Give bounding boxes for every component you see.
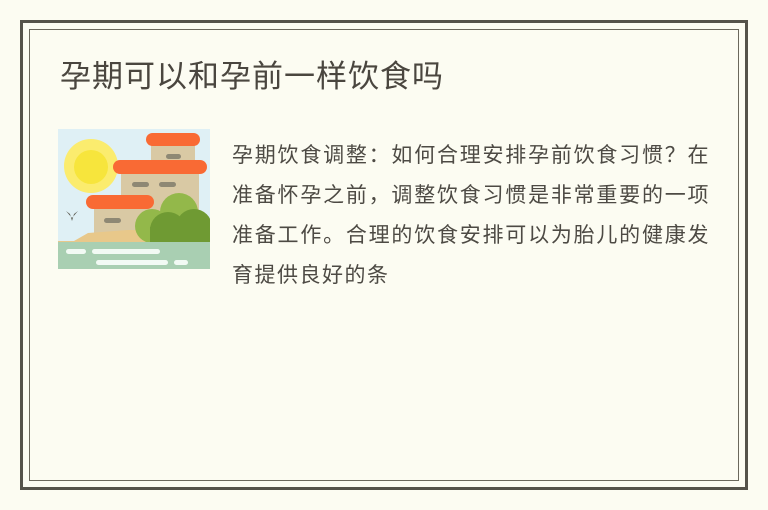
article-card: 孕期可以和孕前一样饮食吗 xyxy=(0,0,768,510)
article-paragraph: 孕期饮食调整：如何合理安排孕前饮食习惯？在准备怀孕之前，调整饮食习惯是非常重要的… xyxy=(232,129,710,295)
article-body: 孕期饮食调整：如何合理安排孕前饮食习惯？在准备怀孕之前，调整饮食习惯是非常重要的… xyxy=(58,129,710,295)
article-thumbnail[interactable] xyxy=(58,129,210,269)
page-title: 孕期可以和孕前一样饮食吗 xyxy=(58,55,710,99)
riverside-village-illustration-icon xyxy=(58,129,210,269)
article-content: 孕期可以和孕前一样饮食吗 xyxy=(58,55,710,465)
